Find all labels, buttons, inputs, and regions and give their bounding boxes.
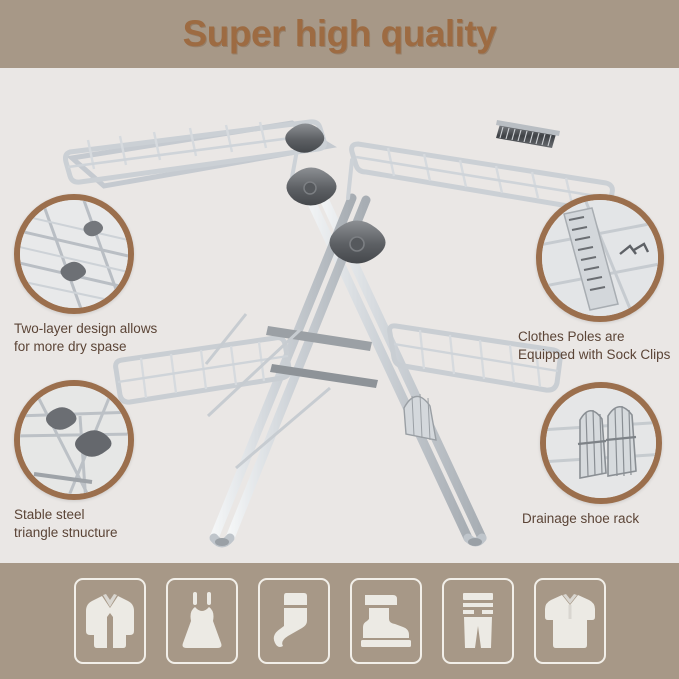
icon-tile-boot	[350, 578, 422, 664]
header-band: Super high quality	[0, 0, 679, 68]
callout-two-layer-design: Two-layer design allows for more dry spa…	[14, 194, 157, 356]
pants-icon	[456, 592, 500, 650]
drainage-shoe-rack-parts	[404, 394, 436, 440]
icon-tile-dress	[166, 578, 238, 664]
garment-type-icon-band	[0, 563, 679, 679]
callout-drainage-shoe-rack: Drainage shoe rack	[540, 382, 662, 528]
callout-circle-two-layer	[14, 194, 134, 314]
callout-circle-triangle	[14, 380, 134, 500]
callout-sock-clips: Clothes Poles are Equipped with Sock Cli…	[536, 194, 670, 364]
callout-triangle-structure: Stable steel triangle stnucture	[14, 380, 134, 542]
boot-icon	[359, 593, 413, 649]
callout-circle-shoe-rack	[540, 382, 662, 504]
callout-label-two-layer: Two-layer design allows for more dry spa…	[14, 320, 157, 356]
icon-tile-jacket	[74, 578, 146, 664]
sock-icon	[272, 591, 316, 651]
callout-label-triangle: Stable steel triangle stnucture	[14, 506, 134, 542]
icon-tile-polo-shirt	[534, 578, 606, 664]
sock-clip-strip	[496, 120, 560, 148]
polo-shirt-icon	[544, 593, 596, 649]
callout-circle-sock-clips	[536, 194, 664, 322]
icon-tile-sock	[258, 578, 330, 664]
product-stage: Two-layer design allows for more dry spa…	[0, 68, 679, 563]
jacket-icon	[84, 591, 136, 651]
dress-icon	[179, 591, 225, 651]
page-title: Super high quality	[183, 13, 497, 55]
callout-label-shoe-rack: Drainage shoe rack	[522, 510, 662, 528]
icon-tile-pants	[442, 578, 514, 664]
callout-label-sock-clips: Clothes Poles are Equipped with Sock Cli…	[518, 328, 670, 364]
